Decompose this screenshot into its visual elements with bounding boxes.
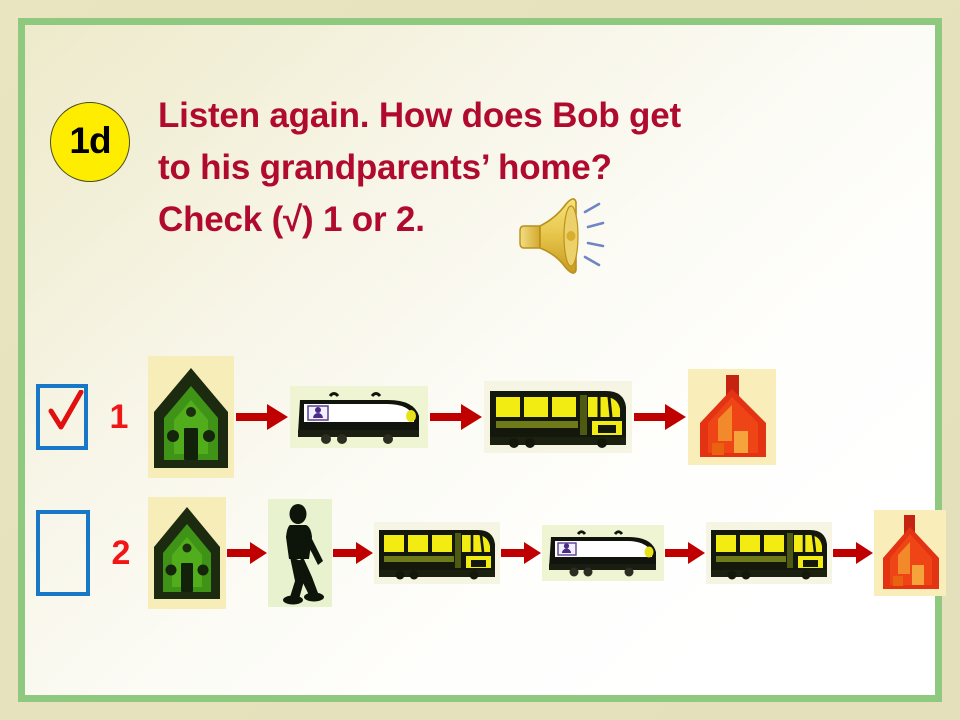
- train-icon: [290, 386, 428, 448]
- exercise-badge-label: 1d: [69, 122, 110, 162]
- arrow-right-icon: [500, 539, 542, 567]
- green-house-icon: [148, 497, 226, 609]
- green-house-icon: [148, 356, 234, 478]
- check-mark-icon: [48, 390, 84, 434]
- arrow-right-icon: [234, 400, 290, 434]
- option-1-checkbox[interactable]: [36, 384, 88, 450]
- train-icon: [542, 525, 664, 581]
- arrow-right-icon: [428, 400, 484, 434]
- option-row-2: 2: [36, 492, 926, 614]
- bus-icon: [484, 381, 632, 453]
- option-2-number: 2: [104, 534, 138, 573]
- exercise-badge: 1d: [50, 102, 130, 182]
- arrow-right-icon: [226, 539, 268, 567]
- option-2-checkbox[interactable]: [36, 510, 90, 596]
- slide-header: 1d Listen again. How does Bob get to his…: [36, 78, 896, 288]
- instruction-line-2: to his grandparents’ home?: [158, 142, 898, 194]
- option-row-1: 1: [36, 352, 926, 482]
- slide-canvas: 1d Listen again. How does Bob get to his…: [0, 0, 960, 720]
- option-1-number: 1: [102, 398, 136, 437]
- red-house-icon: [688, 369, 776, 465]
- instruction-line-1: Listen again. How does Bob get: [158, 90, 898, 142]
- bus-icon: [374, 522, 500, 584]
- arrow-right-icon: [632, 400, 688, 434]
- speaker-icon[interactable]: [514, 196, 606, 274]
- bus-icon: [706, 522, 832, 584]
- red-house-icon: [874, 510, 946, 596]
- arrow-right-icon: [332, 539, 374, 567]
- arrow-right-icon: [664, 539, 706, 567]
- arrow-right-icon: [832, 539, 874, 567]
- walking-person-icon: [268, 499, 332, 607]
